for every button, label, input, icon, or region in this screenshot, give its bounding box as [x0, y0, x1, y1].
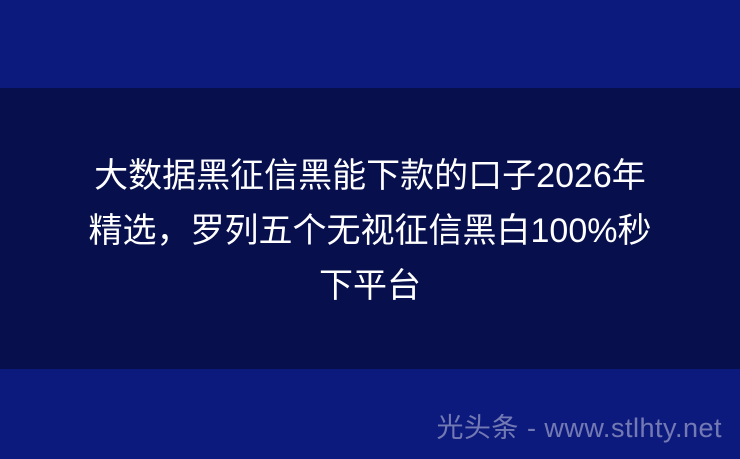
site-watermark: 光头条 - www.stlhty.net: [436, 411, 722, 445]
background-band-top: [0, 0, 740, 88]
promo-banner: 大数据黑征信黑能下款的口子2026年 精选，罗列五个无视征信黑白100%秒 下平…: [0, 0, 740, 459]
background-band-middle: [0, 88, 740, 369]
